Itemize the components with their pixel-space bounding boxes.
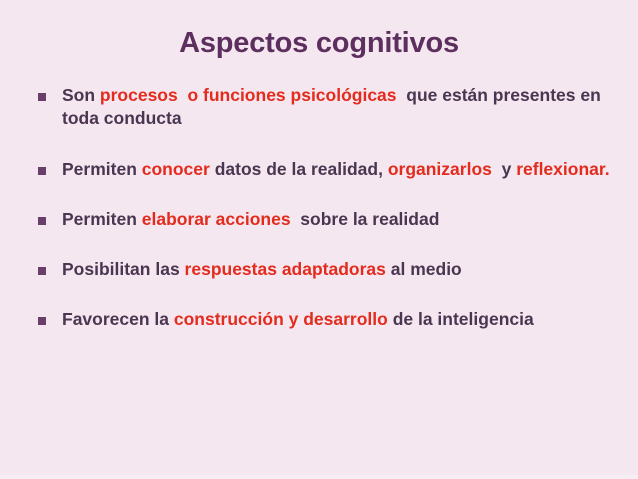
bullet-list: Son procesos o funciones psicológicas qu… bbox=[34, 84, 622, 332]
plain-phrase: Permiten bbox=[62, 209, 142, 229]
list-item: Son procesos o funciones psicológicas qu… bbox=[34, 84, 622, 131]
list-item-text: Favorecen la construcción y desarrollo d… bbox=[62, 309, 534, 329]
highlighted-phrase: respuestas adaptadoras bbox=[185, 259, 386, 279]
square-bullet-icon bbox=[38, 217, 46, 225]
list-item-text: Son procesos o funciones psicológicas qu… bbox=[62, 85, 606, 128]
list-item-text: Permiten conocer datos de la realidad, o… bbox=[62, 159, 610, 179]
plain-phrase: Son bbox=[62, 85, 100, 105]
plain-phrase: al medio bbox=[386, 259, 462, 279]
square-bullet-icon bbox=[38, 267, 46, 275]
highlighted-phrase: construcción y desarrollo bbox=[174, 309, 388, 329]
square-bullet-icon bbox=[38, 167, 46, 175]
plain-phrase: y bbox=[492, 159, 516, 179]
list-item-text: Permiten elaborar acciones sobre la real… bbox=[62, 209, 439, 229]
slide-bottom-band bbox=[0, 475, 638, 479]
list-item: Posibilitan las respuestas adaptadoras a… bbox=[34, 258, 622, 281]
plain-phrase: sobre la realidad bbox=[291, 209, 440, 229]
highlighted-phrase: procesos o funciones psicológicas bbox=[100, 85, 397, 105]
highlighted-phrase: organizarlos bbox=[388, 159, 492, 179]
square-bullet-icon bbox=[38, 317, 46, 325]
plain-phrase: Favorecen la bbox=[62, 309, 174, 329]
list-item-text: Posibilitan las respuestas adaptadoras a… bbox=[62, 259, 462, 279]
plain-phrase: Posibilitan las bbox=[62, 259, 185, 279]
list-item: Permiten conocer datos de la realidad, o… bbox=[34, 158, 622, 181]
square-bullet-icon bbox=[38, 93, 46, 101]
page-title: Aspectos cognitivos bbox=[0, 28, 638, 60]
slide-canvas: Aspectos cognitivos Son procesos o funci… bbox=[0, 0, 638, 479]
highlighted-phrase: conocer bbox=[142, 159, 210, 179]
list-item: Favorecen la construcción y desarrollo d… bbox=[34, 308, 622, 331]
plain-phrase: Permiten bbox=[62, 159, 142, 179]
highlighted-phrase: reflexionar. bbox=[516, 159, 609, 179]
list-item: Permiten elaborar acciones sobre la real… bbox=[34, 208, 622, 231]
plain-phrase: datos de la realidad, bbox=[210, 159, 388, 179]
highlighted-phrase: elaborar acciones bbox=[142, 209, 291, 229]
plain-phrase: de la inteligencia bbox=[388, 309, 534, 329]
